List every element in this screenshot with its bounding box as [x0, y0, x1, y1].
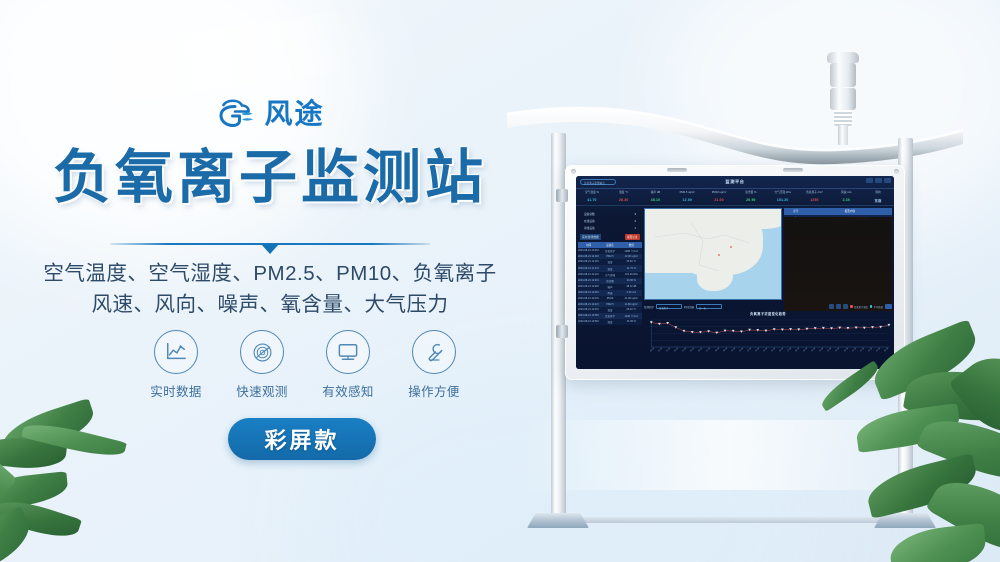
metric-cell: 风速 m/s2.30: [830, 191, 862, 206]
metric-cell: 噪声 dB48.10: [640, 191, 672, 206]
range-label: 时间范围: [684, 305, 694, 309]
feature-list: 实时数据 快速观测 有效感知: [140, 330, 470, 400]
sensor-cap: [827, 52, 859, 63]
metric-value: 东南: [862, 198, 894, 203]
metric-value: 1250: [799, 198, 831, 202]
table-row[interactable]: 2023-08-21 10:56:05湿度41.50 %: [578, 319, 642, 325]
wave-canopy: [505, 100, 965, 170]
dashboard-header-tools: [866, 178, 891, 183]
metric-cell: 风向东南: [862, 191, 894, 206]
table-toolbar: 实时监测数据 报警记录: [578, 234, 642, 240]
device-summary-row: 离线设备1: [584, 225, 636, 232]
legend-item-1: 负氧离子浓度: [850, 305, 868, 309]
device-summary-label: 设备总数: [584, 211, 595, 218]
mount-bracket-lower: [556, 325, 568, 338]
device-summary: 设备总数3在线设备2离线设备1: [578, 208, 642, 234]
dashboard-header: 负氧离子监测站点 监测平台: [576, 176, 894, 189]
feature-item-easy-operation[interactable]: 操作方便: [398, 330, 470, 400]
wrench-icon: [412, 330, 456, 374]
feature-label: 实时数据: [140, 381, 212, 400]
feature-item-fast-observation[interactable]: 快速观测: [226, 330, 298, 400]
bezel-dot-left: [571, 169, 576, 174]
metric-value: 2.30: [830, 198, 862, 202]
table-cell: 41.50 %: [621, 319, 642, 325]
metric-value: 20.90: [735, 198, 767, 202]
feature-label: 快速观测: [226, 381, 298, 400]
metric-label: PM10 ug/m³: [703, 191, 735, 195]
divider-triangle-icon: [261, 244, 279, 254]
feature-label: 有效感知: [312, 381, 384, 400]
sensor-body-upper: [830, 63, 856, 87]
metric-value: 26.30: [608, 198, 640, 202]
legend-label-1: 负氧离子浓度: [854, 305, 868, 309]
brand-logo: 风途: [0, 96, 540, 130]
metric-label: 噪声 dB: [640, 191, 672, 195]
device-summary-row: 在线设备2: [584, 218, 636, 225]
metric-value: 48.10: [640, 198, 672, 202]
data-table: 时间设备名数值2023-08-21 11:20:05负氧离子1268 个/cm³…: [578, 242, 642, 326]
alert-header-index: 序号: [784, 208, 808, 215]
header-chip-3[interactable]: [884, 178, 891, 183]
monitoring-station-device: 负氧离子监测站点 监测平台 空气湿度 %41.70温度 ℃26.30噪声 dB4…: [505, 30, 975, 530]
chart-view-button-2[interactable]: [836, 304, 841, 309]
feature-item-effective-sensing[interactable]: 有效感知: [312, 330, 384, 400]
metric-value: 41.70: [576, 198, 608, 202]
metric-label: 温度 ℃: [608, 191, 640, 195]
table-section-label: 实时监测数据: [580, 234, 601, 239]
chart-controls: 监测因子 负氧离子 时间范围 近一天: [644, 303, 892, 310]
param-select-value: 负氧离子: [659, 306, 668, 310]
export-button[interactable]: [885, 304, 892, 309]
bezel-vent-left: [667, 168, 687, 172]
alert-header-row: 序号 报警内容: [784, 208, 892, 215]
metric-cell: 温度 ℃26.30: [608, 191, 640, 206]
brand-name: 风途: [264, 100, 324, 128]
metric-label: PM2.5 ug/m³: [671, 191, 703, 195]
hero-text-column: 风途 负氧离子监测站 空气温度、空气湿度、PM2.5、PM10、负氧离子 风速、…: [0, 0, 540, 562]
cta-button-label: 彩屏款: [264, 423, 339, 455]
header-chip-1[interactable]: [866, 178, 873, 183]
display-screen[interactable]: 负氧离子监测站点 监测平台 空气湿度 %41.70温度 ℃26.30噪声 dB4…: [576, 176, 894, 369]
map-borders: [645, 209, 781, 299]
device-summary-value: 3: [635, 211, 637, 218]
monitoring-dashboard: 负氧离子监测站点 监测平台 空气湿度 %41.70温度 ℃26.30噪声 dB4…: [576, 176, 894, 369]
bezel-dot-right: [894, 169, 899, 174]
trend-chart-panel: 监测因子 负氧离子 时间范围 近一天: [644, 303, 892, 367]
subtitle-line-1: 空气温度、空气湿度、PM2.5、PM10、负氧离子: [0, 258, 540, 289]
title-divider: [110, 240, 430, 254]
param-select[interactable]: 负氧离子: [656, 304, 682, 309]
metric-label: 风向: [862, 191, 894, 195]
metric-label: 负氧离子 /cm³: [799, 191, 831, 195]
left-panel: 设备总数3在线设备2离线设备1 实时监测数据 报警记录 时间设备名数值2023-…: [578, 208, 642, 367]
subtitle-block: 空气温度、空气湿度、PM2.5、PM10、负氧离子 风速、风向、噪声、氧含量、大…: [0, 258, 540, 320]
feature-item-realtime-data[interactable]: 实时数据: [140, 330, 212, 400]
chart-title: 负氧离子浓度变化趋势: [644, 311, 892, 316]
alert-button[interactable]: 报警记录: [625, 234, 640, 239]
range-select-value: 近一天: [699, 306, 706, 310]
chart-x-labels: 00:0001:0002:0003:0004:0005:0006:0007:00…: [644, 351, 892, 353]
cta-button[interactable]: 彩屏款: [228, 418, 376, 460]
metric-cell: 负氧离子 /cm³1250: [799, 191, 831, 206]
table-cell: 2023-08-21 10:56:05: [578, 319, 599, 325]
feature-label: 操作方便: [398, 381, 470, 400]
alert-header-content: 报警内容: [808, 208, 892, 215]
device-summary-value: 2: [635, 218, 637, 225]
mount-bracket-upper: [556, 189, 568, 202]
alert-panel-placeholder: [784, 217, 892, 311]
dashboard-body: 设备总数3在线设备2离线设备1 实时监测数据 报警记录 时间设备名数值2023-…: [576, 206, 894, 369]
base-plate-left: [527, 513, 589, 528]
line-chart-icon: [154, 330, 198, 374]
metric-cell: 大气压强 kPa101.20: [767, 191, 799, 206]
metric-label: 风速 m/s: [830, 191, 862, 195]
chart-view-button-3[interactable]: [843, 304, 848, 309]
metric-label: 氧含量 %: [735, 191, 767, 195]
metric-cell: PM2.5 ug/m³12.00: [671, 191, 703, 206]
range-select[interactable]: 近一天: [696, 304, 722, 309]
metric-value: 12.00: [671, 198, 703, 202]
metric-cell: 氧含量 %20.90: [735, 191, 767, 206]
device-summary-label: 离线设备: [584, 225, 595, 232]
header-chip-2[interactable]: [875, 178, 882, 183]
bezel-vent-right: [783, 168, 803, 172]
device-summary-row: 设备总数3: [584, 211, 636, 218]
cloud-leaf-logo-icon: [215, 96, 255, 130]
radar-scan-icon: [240, 330, 284, 374]
chart-view-button-1[interactable]: [829, 304, 834, 309]
metrics-bar: 空气湿度 %41.70温度 ℃26.30噪声 dB48.10PM2.5 ug/m…: [576, 189, 894, 206]
device-summary-label: 在线设备: [584, 218, 595, 225]
dashboard-title: 监测平台: [576, 179, 894, 185]
table-cell: 湿度: [599, 319, 620, 325]
subtitle-line-2: 风速、风向、噪声、氧含量、大气压力: [0, 289, 540, 320]
metric-label: 大气压强 kPa: [767, 191, 799, 195]
metric-value: 101.20: [767, 198, 799, 202]
display-enclosure: 负氧离子监测站点 监测平台 空气湿度 %41.70温度 ℃26.30噪声 dB4…: [565, 165, 905, 380]
base-plate-right: [874, 513, 936, 528]
metric-cell: 空气湿度 %41.70: [576, 191, 608, 206]
page-title: 负氧离子监测站: [0, 148, 540, 209]
metric-cell: PM10 ug/m³21.00: [703, 191, 735, 206]
param-label: 监测因子: [644, 305, 654, 309]
legend-label-2: 平均浓度: [874, 305, 883, 309]
map-panel[interactable]: [644, 208, 782, 300]
metric-value: 21.00: [703, 198, 735, 202]
metric-label: 空气湿度 %: [576, 191, 608, 195]
monitor-icon: [326, 330, 370, 374]
legend-item-2: 平均浓度: [870, 305, 883, 309]
ground-rail: [575, 517, 905, 523]
device-summary-value: 1: [635, 225, 637, 232]
